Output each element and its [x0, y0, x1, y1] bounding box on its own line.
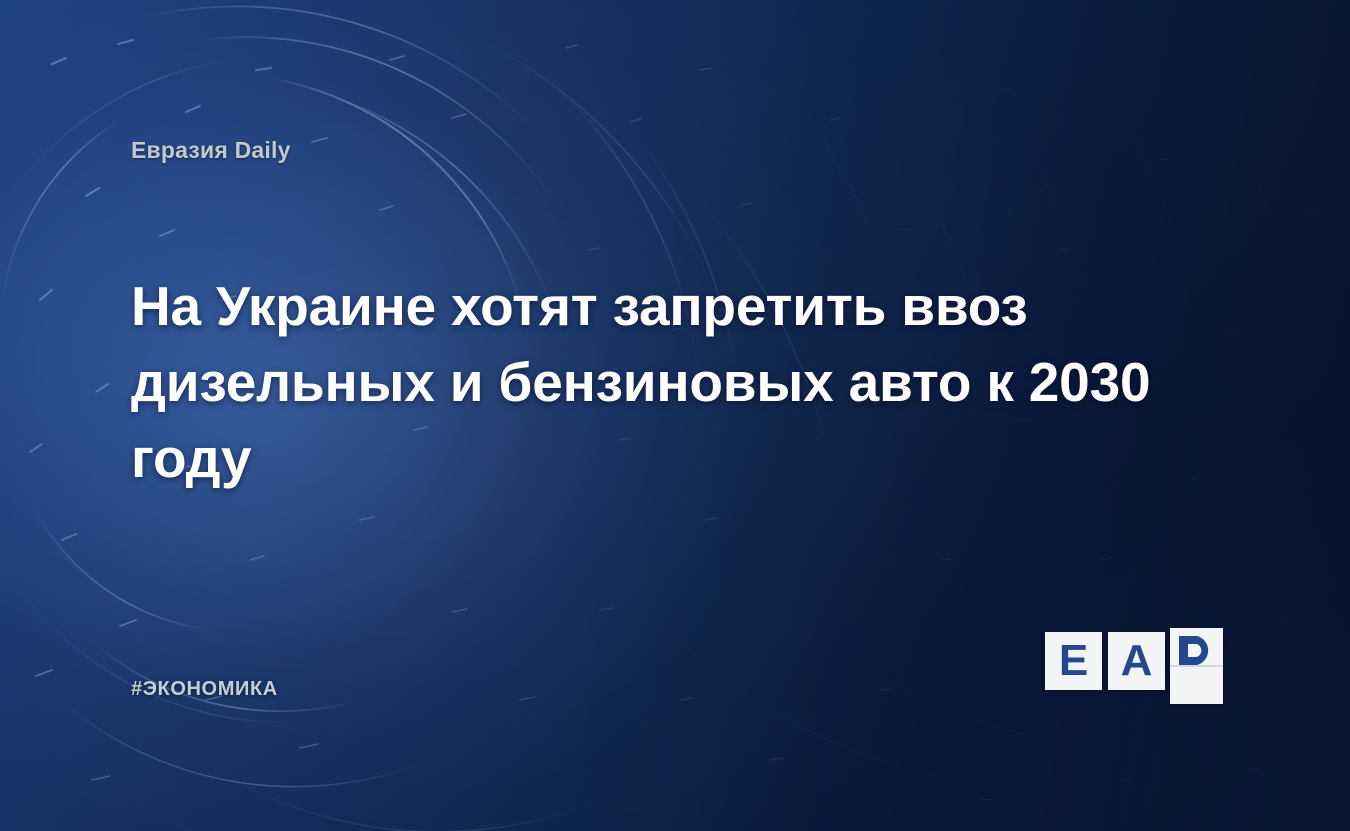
logo-tile-e: E: [1045, 632, 1102, 690]
card-content: Евразия Daily На Украине хотят запретить…: [0, 0, 1350, 831]
eadaily-logo[interactable]: E A: [1045, 628, 1223, 704]
logo-letter-e: E: [1059, 639, 1088, 683]
logo-tile-divider: [1170, 665, 1223, 667]
category-hashtag[interactable]: #ЭКОНОМИКА: [131, 678, 278, 701]
news-share-card: Евразия Daily На Украине хотят запретить…: [0, 0, 1350, 831]
page-title: На Украине хотят запретить ввоз дизельны…: [131, 268, 1171, 496]
logo-tile-a: A: [1108, 632, 1165, 690]
logo-letter-a: A: [1121, 639, 1153, 683]
brand-name: Евразия Daily: [131, 137, 291, 164]
